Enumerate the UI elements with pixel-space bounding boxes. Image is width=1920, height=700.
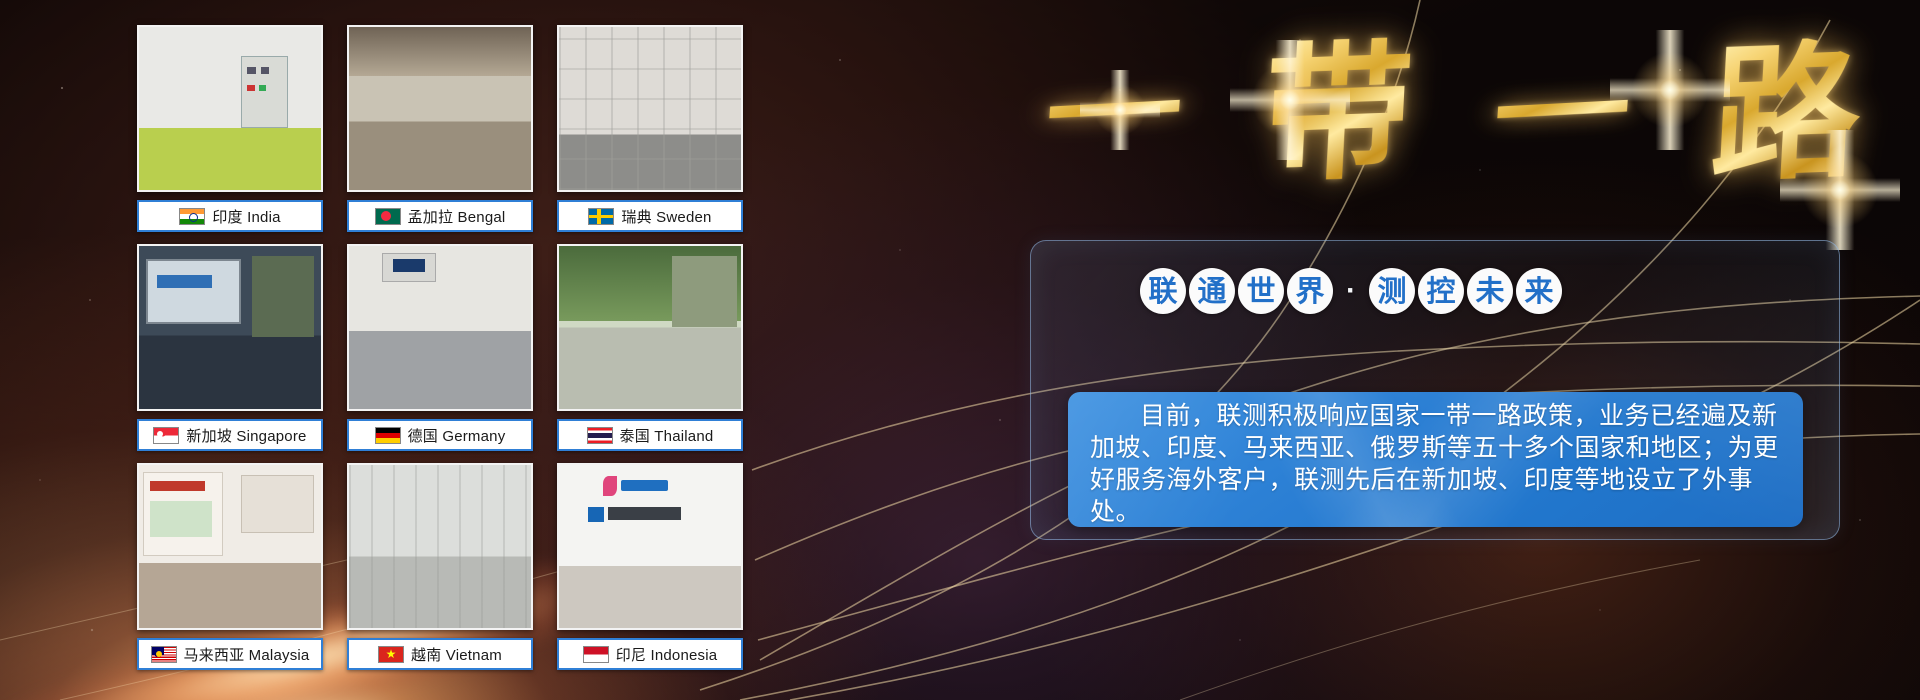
calligraphy-char-2: 带 — [1260, 36, 1416, 189]
photo-card-malaysia[interactable]: 马来西亚 Malaysia — [137, 463, 323, 670]
country-label-text: 越南 Vietnam — [411, 644, 502, 665]
photo-card-sweden[interactable]: 瑞典 Sweden — [557, 25, 743, 232]
description-panel: 目前，联测积极响应国家一带一路政策，业务已经遍及新加坡、印度、马来西亚、俄罗斯等… — [1068, 392, 1803, 527]
flag-singapore-icon — [153, 427, 179, 444]
country-label: 越南 Vietnam — [347, 638, 533, 670]
photo-thumbnail[interactable] — [347, 25, 533, 192]
country-label-text: 孟加拉 Bengal — [408, 206, 506, 227]
description-paragraph-1: 目前，联测积极响应国家一带一路政策，业务已经遍及新加坡、印度、马来西亚、俄罗斯等… — [1090, 400, 1781, 527]
country-label-text: 泰国 Thailand — [620, 425, 714, 446]
calligraphy-char-3: 一 — [1490, 58, 1634, 169]
photo-thumbnail[interactable] — [137, 463, 323, 630]
country-label: 瑞典 Sweden — [557, 200, 743, 232]
photo-thumbnail[interactable] — [557, 244, 743, 411]
photo-card-singapore[interactable]: 新加坡 Singapore — [137, 244, 323, 451]
country-label-text: 印度 India — [212, 206, 280, 227]
calligraphy-char-4: 路 — [1708, 36, 1864, 189]
slogan-char-5: 测 — [1369, 268, 1415, 314]
country-label: 印度 India — [137, 200, 323, 232]
sparkle-glint-icon — [1780, 130, 1900, 250]
photo-card-india[interactable]: 印度 India — [137, 25, 323, 232]
slogan-char-4: 界 — [1287, 268, 1333, 314]
country-label: 印尼 Indonesia — [557, 638, 743, 670]
sparkle-glint-icon — [1080, 70, 1160, 150]
country-label-text: 瑞典 Sweden — [621, 206, 711, 227]
calligraphy-char-1: 一 — [1042, 58, 1186, 169]
flag-sweden-icon — [588, 208, 614, 225]
slogan-char-7: 未 — [1467, 268, 1513, 314]
slogan-char-6: 控 — [1418, 268, 1464, 314]
flag-malaysia-icon — [151, 646, 177, 663]
flag-indonesia-icon — [583, 646, 609, 663]
slogan-char-2: 通 — [1189, 268, 1235, 314]
country-label: 孟加拉 Bengal — [347, 200, 533, 232]
country-label-text: 马来西亚 Malaysia — [184, 644, 310, 665]
flag-bengal-icon — [375, 208, 401, 225]
banner-stage: 印度 India — [0, 0, 1920, 700]
photo-card-indonesia[interactable]: 印尼 Indonesia — [557, 463, 743, 670]
flag-thailand-icon — [587, 427, 613, 444]
country-photo-grid: 印度 India — [137, 25, 753, 675]
description-text: 目前，联测积极响应国家一带一路政策，业务已经遍及新加坡、印度、马来西亚、俄罗斯等… — [1090, 400, 1781, 527]
photo-thumbnail[interactable] — [137, 25, 323, 192]
slogan-char-3: 世 — [1238, 268, 1284, 314]
photo-thumbnail[interactable] — [557, 25, 743, 192]
photo-thumbnail[interactable] — [557, 463, 743, 630]
country-label-text: 新加坡 Singapore — [186, 425, 306, 446]
flag-india-icon — [179, 208, 205, 225]
photo-card-germany[interactable]: 德国 Germany — [347, 244, 533, 451]
photo-thumbnail[interactable] — [137, 244, 323, 411]
sparkle-glint-icon — [1610, 30, 1730, 150]
country-label: 德国 Germany — [347, 419, 533, 451]
slogan-char-1: 联 — [1140, 268, 1186, 314]
photo-card-bengal[interactable]: 孟加拉 Bengal — [347, 25, 533, 232]
country-label: 新加坡 Singapore — [137, 419, 323, 451]
country-label: 泰国 Thailand — [557, 419, 743, 451]
photo-card-vietnam[interactable]: 越南 Vietnam — [347, 463, 533, 670]
photo-thumbnail[interactable] — [347, 244, 533, 411]
photo-thumbnail[interactable] — [347, 463, 533, 630]
sparkle-glint-icon — [1230, 40, 1350, 160]
flag-germany-icon — [375, 427, 401, 444]
flag-vietnam-icon — [378, 646, 404, 663]
slogan-char-8: 来 — [1516, 268, 1562, 314]
calligraphy-title: 一 带 一 路 — [1040, 8, 1860, 218]
photo-card-thailand[interactable]: 泰国 Thailand — [557, 244, 743, 451]
slogan-headline: 联 通 世 界 · 测 控 未 来 — [1140, 258, 1700, 324]
slogan-separator-dot: · — [1336, 276, 1366, 306]
country-label: 马来西亚 Malaysia — [137, 638, 323, 670]
country-label-text: 德国 Germany — [408, 425, 506, 446]
country-label-text: 印尼 Indonesia — [616, 644, 718, 665]
